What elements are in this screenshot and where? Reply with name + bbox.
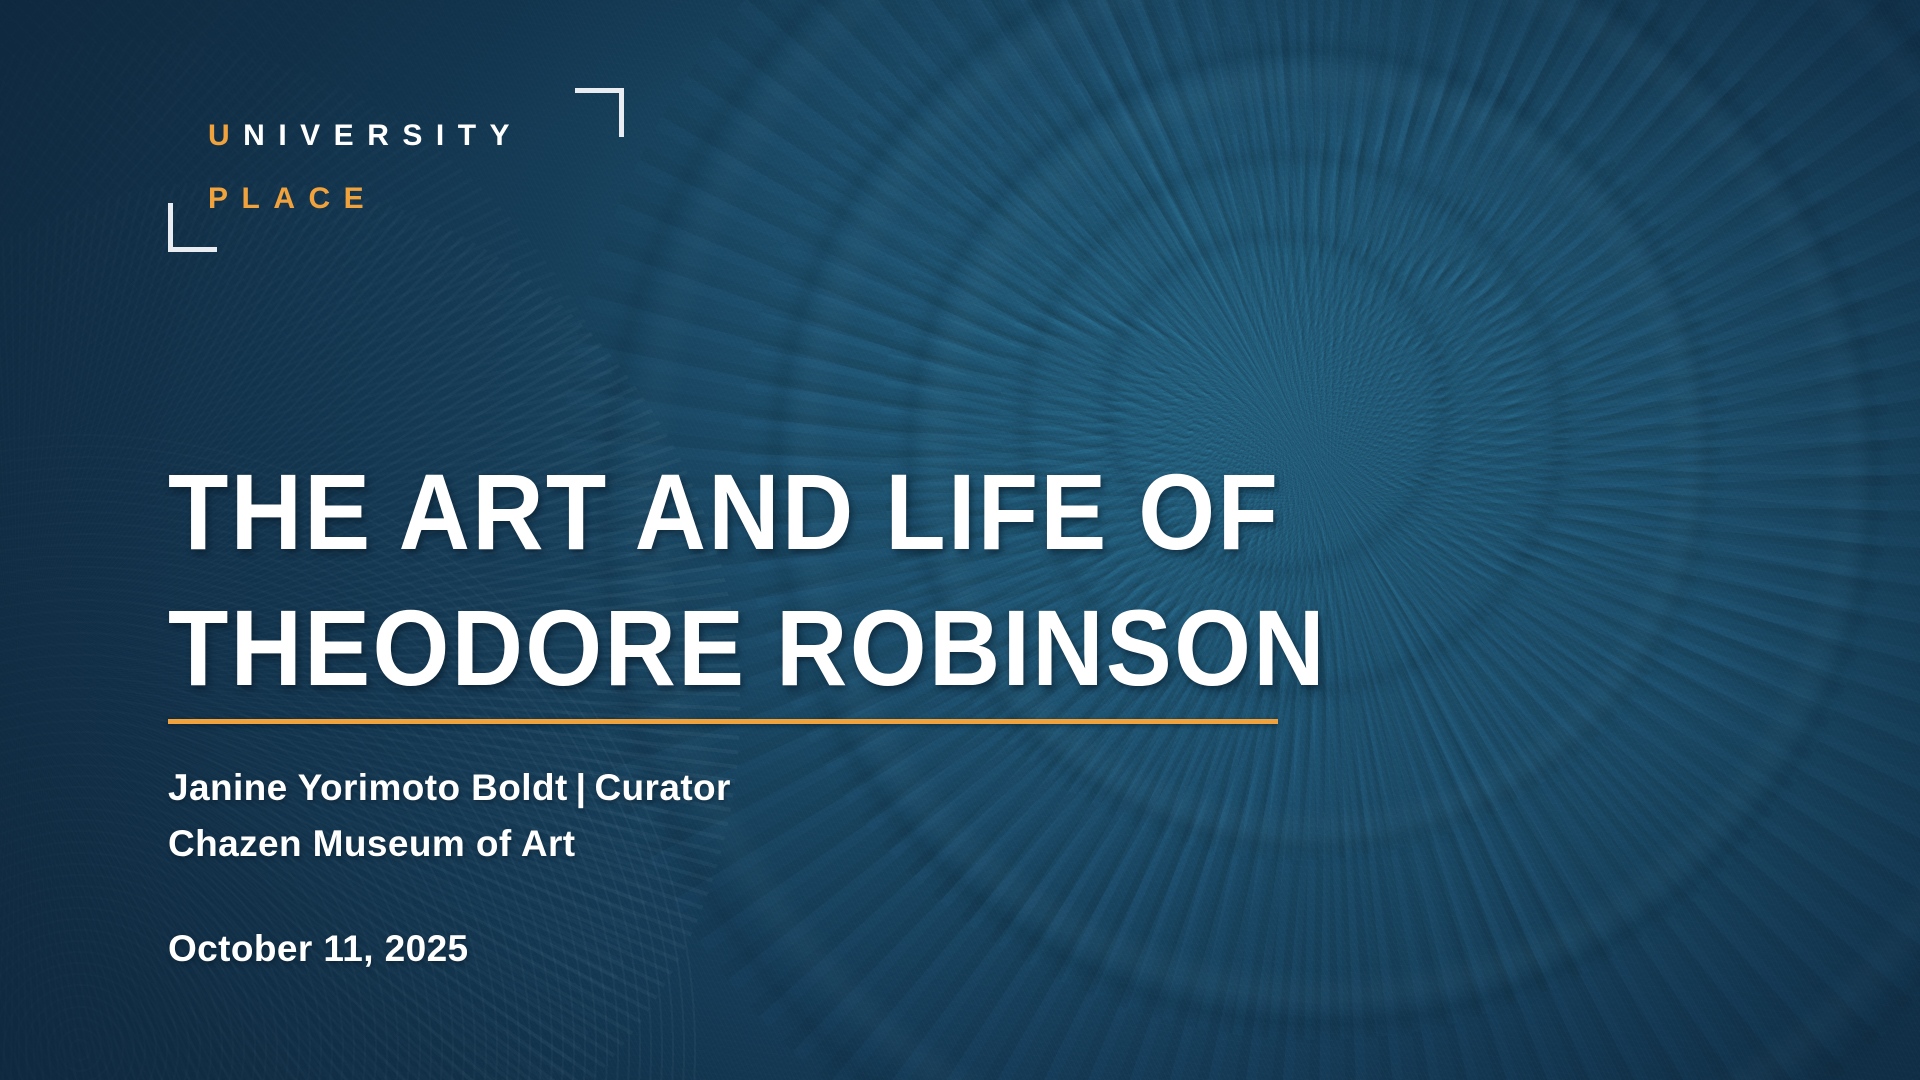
presenter-organization: Chazen Museum of Art (168, 816, 1268, 872)
title-slide: UNIVERSITY PLACE THE ART AND LIFE OF THE… (0, 0, 1920, 1080)
slide-content: UNIVERSITY PLACE THE ART AND LIFE OF THE… (0, 0, 1920, 1080)
title-line-2: THEODORE ROBINSON (168, 580, 1449, 716)
orange-rule-divider (168, 719, 1278, 724)
presenter-name: Janine Yorimoto Boldt (168, 767, 568, 808)
presenter-role: Curator (594, 767, 730, 808)
logo-initial-u: U (208, 119, 243, 152)
byline-block: Janine Yorimoto Boldt|Curator Chazen Mus… (168, 760, 1268, 872)
logo-line-place: PLACE (208, 184, 377, 214)
corner-bracket-top-right-icon (575, 88, 624, 137)
logo-line-university: UNIVERSITY (208, 121, 523, 151)
byline-separator: | (568, 767, 595, 808)
university-place-logo[interactable]: UNIVERSITY PLACE (168, 96, 618, 246)
title-line-1: THE ART AND LIFE OF (168, 444, 1449, 580)
event-date: October 11, 2025 (168, 928, 469, 970)
logo-word-niversity: NIVERSITY (243, 119, 523, 152)
page-title: THE ART AND LIFE OF THEODORE ROBINSON (168, 444, 1449, 715)
byline-presenter-row: Janine Yorimoto Boldt|Curator (168, 760, 1268, 816)
